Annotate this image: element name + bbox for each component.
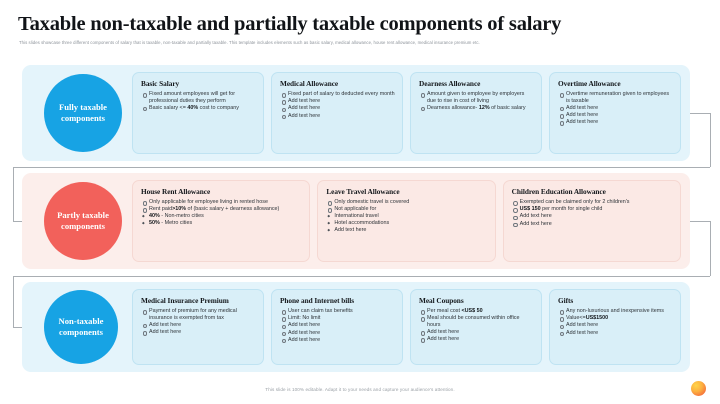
card-bullet-list: Fixed part of salary to deducted every m… [280, 91, 395, 119]
list-item: Add text here [280, 105, 395, 112]
card-bullet-list: Per meal cost <US$ 50 Meal should be con… [419, 308, 534, 343]
card-title: Medical Insurance Premium [141, 296, 256, 305]
card-leave-travel-allowance[interactable]: Leave Travel Allowance Only domestic tra… [317, 180, 495, 262]
slide-canvas: Taxable non-taxable and partially taxabl… [0, 0, 720, 404]
card-overtime-allowance[interactable]: Overtime Allowance Overtime remuneration… [549, 72, 681, 154]
row-non-taxable: Non-taxable components Medical Insurance… [22, 282, 690, 372]
list-item: Exempted can be claimed only for 2 child… [512, 199, 673, 206]
list-item: International travel [326, 213, 487, 220]
list-item: Meal should be consumed within office ho… [419, 315, 534, 328]
list-item: Add text here [558, 322, 673, 329]
card-title: Overtime Allowance [558, 79, 673, 88]
card-basic-salary[interactable]: Basic Salary Fixed amount employees will… [132, 72, 264, 154]
list-item: Value<=US$1500 [558, 315, 673, 322]
card-children-education-allowance[interactable]: Children Education Allowance Exempted ca… [503, 180, 681, 262]
brand-logo-icon [691, 381, 706, 396]
list-item: Only domestic travel is covered [326, 199, 487, 206]
list-item: Add text here [512, 213, 673, 220]
connector-row2-segment-bottom [13, 276, 710, 277]
row-label-partly-taxable: Partly taxable components [44, 182, 122, 260]
list-item: Add text here [419, 336, 534, 343]
card-title: Medical Allowance [280, 79, 395, 88]
card-bullet-list: Fixed amount employees will get for prof… [141, 91, 256, 111]
list-item: Any non-luxurious and inexpensive items [558, 308, 673, 315]
row-partly-taxable: Partly taxable components House Rent All… [22, 173, 690, 269]
list-item: Fixed amount employees will get for prof… [141, 91, 256, 104]
list-item: US$ 150 per month for single child [512, 206, 673, 213]
list-item: User can claim tax benefits [280, 308, 395, 315]
card-phone-and-internet-bills[interactable]: Phone and Internet bills User can claim … [271, 289, 403, 365]
card-title: Leave Travel Allowance [326, 187, 487, 196]
list-item: Add text here [280, 337, 395, 344]
list-item: Add text here [141, 329, 256, 336]
row-label-fully-taxable: Fully taxable components [44, 74, 122, 152]
list-item: 50% - Metro cities [141, 220, 302, 227]
list-item: Fixed part of salary to deducted every m… [280, 91, 395, 98]
row-label-non-taxable: Non-taxable components [44, 290, 118, 364]
page-title: Taxable non-taxable and partially taxabl… [18, 12, 708, 36]
list-item: Limit: No limit [280, 315, 395, 322]
list-item: Add text here [326, 227, 487, 234]
list-item: Hotel accommodations [326, 220, 487, 227]
card-title: Gifts [558, 296, 673, 305]
card-gifts[interactable]: Gifts Any non-luxurious and inexpensive … [549, 289, 681, 365]
list-item: Add text here [280, 98, 395, 105]
list-item: Add text here [280, 322, 395, 329]
page-subtitle: This slides showcase three different com… [19, 40, 701, 46]
list-item: Add text here [558, 119, 673, 126]
card-bullet-list: Any non-luxurious and inexpensive items … [558, 308, 673, 336]
list-item: 40% - Non-metro cities [141, 213, 302, 220]
list-item: Add text here [141, 322, 256, 329]
list-item: Dearness allowance- 12% of basic salary [419, 105, 534, 112]
card-medical-insurance-premium[interactable]: Medical Insurance Premium Payment of pre… [132, 289, 264, 365]
card-group-partly-taxable: House Rent Allowance Only applicable for… [132, 180, 681, 262]
card-bullet-list: User can claim tax benefits Limit: No li… [280, 308, 395, 343]
card-bullet-list: Payment of premium for any medical insur… [141, 308, 256, 336]
card-title: Phone and Internet bills [280, 296, 395, 305]
list-item: Rent paid>10% of (basic salary + dearnes… [141, 206, 302, 213]
connector-row1-segment-right [710, 113, 711, 167]
list-item: Add text here [558, 112, 673, 119]
list-item: Amount given to employee by employers du… [419, 91, 534, 104]
list-item: Payment of premium for any medical insur… [141, 308, 256, 321]
list-item: Basic salary <= 40% cost to company [141, 105, 256, 112]
list-item: Add text here [419, 329, 534, 336]
card-title: Basic Salary [141, 79, 256, 88]
card-title: Dearness Allowance [419, 79, 534, 88]
connector-row2-segment-right [710, 221, 711, 276]
card-bullet-list: Overtime remuneration given to employees… [558, 91, 673, 126]
list-item: Add text here [558, 105, 673, 112]
card-group-fully-taxable: Basic Salary Fixed amount employees will… [132, 72, 681, 154]
card-group-non-taxable: Medical Insurance Premium Payment of pre… [132, 289, 681, 365]
connector-row2-segment-left [13, 276, 14, 327]
list-item: Only applicable for employee living in r… [141, 199, 302, 206]
list-item: Add text here [280, 113, 395, 120]
card-bullet-list: Only applicable for employee living in r… [141, 199, 302, 213]
connector-row1-segment-bottom [13, 167, 710, 168]
list-item: Add text here [280, 330, 395, 337]
list-item: Add text here [558, 330, 673, 337]
card-meal-coupons[interactable]: Meal Coupons Per meal cost <US$ 50 Meal … [410, 289, 542, 365]
card-title: House Rent Allowance [141, 187, 302, 196]
list-item: Per meal cost <US$ 50 [419, 308, 534, 315]
row-fully-taxable: Fully taxable components Basic Salary Fi… [22, 65, 690, 161]
list-item: Overtime remuneration given to employees… [558, 91, 673, 104]
card-sub-bullet-list: International travel Hotel accommodation… [326, 213, 487, 234]
list-item: Add text here [512, 221, 673, 228]
card-house-rent-allowance[interactable]: House Rent Allowance Only applicable for… [132, 180, 310, 262]
connector-row1-segment-left [13, 167, 14, 221]
card-bullet-list: Amount given to employee by employers du… [419, 91, 534, 111]
card-bullet-list: Exempted can be claimed only for 2 child… [512, 199, 673, 227]
card-medical-allowance[interactable]: Medical Allowance Fixed part of salary t… [271, 72, 403, 154]
list-item: Not applicable for [326, 206, 487, 213]
card-title: Children Education Allowance [512, 187, 673, 196]
card-sub-bullet-list: 40% - Non-metro cities 50% - Metro citie… [141, 213, 302, 227]
footer-note: This slide is 100% editable. Adapt it to… [0, 387, 720, 392]
card-dearness-allowance[interactable]: Dearness Allowance Amount given to emplo… [410, 72, 542, 154]
card-title: Meal Coupons [419, 296, 534, 305]
card-bullet-list: Only domestic travel is covered Not appl… [326, 199, 487, 213]
